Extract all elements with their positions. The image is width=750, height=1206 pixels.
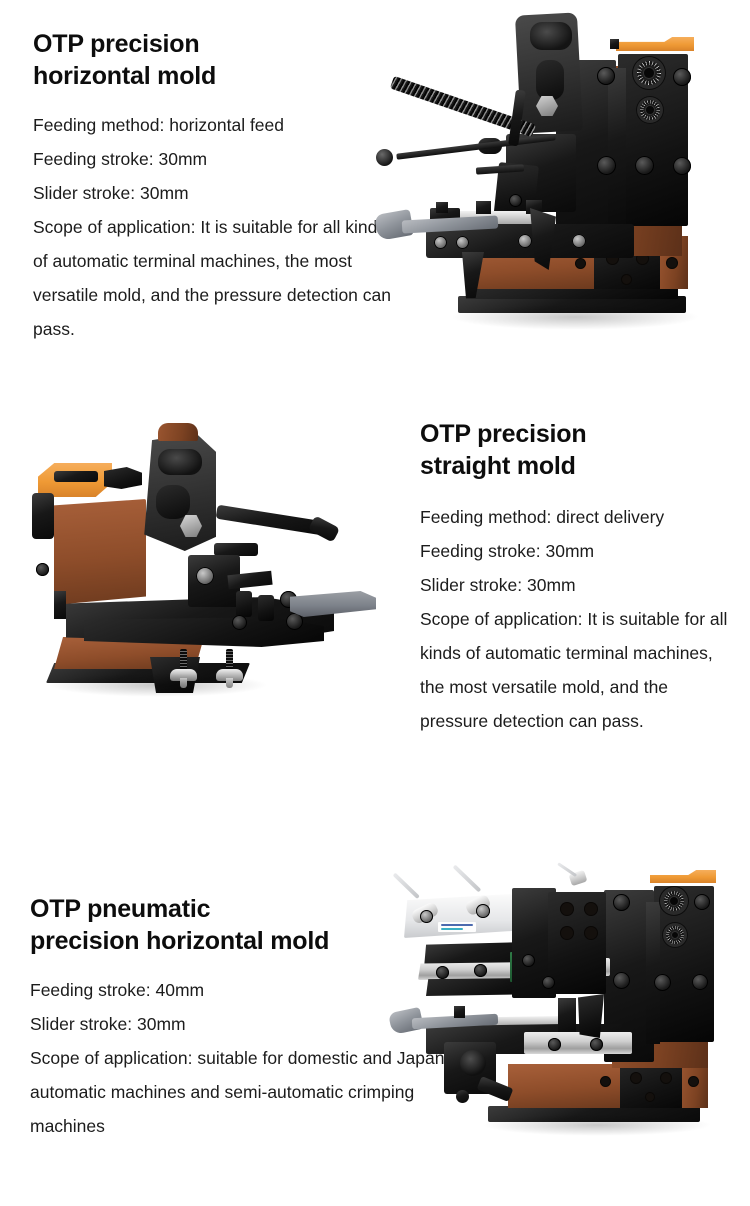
slide-bolt-1 bbox=[434, 236, 447, 249]
product-1-image bbox=[370, 8, 742, 338]
bolt-3-mid-right bbox=[692, 974, 708, 990]
base-hole-left bbox=[575, 258, 586, 269]
bolt-3-mid-center bbox=[654, 974, 671, 991]
paddle-pin bbox=[454, 1006, 465, 1018]
cylinder-label bbox=[438, 922, 476, 932]
left-housing bbox=[32, 493, 54, 539]
head-cap-knob bbox=[530, 22, 572, 50]
clamp-knob bbox=[456, 1090, 469, 1103]
upper-rail-bolt-2 bbox=[474, 964, 487, 977]
wing-screw-right-stem bbox=[226, 649, 233, 671]
adjustment-dial-upper[interactable] bbox=[632, 56, 666, 90]
orange-top-plate-3 bbox=[650, 870, 716, 883]
mid-bolt bbox=[509, 194, 522, 207]
adjustment-dial-lower[interactable] bbox=[636, 96, 664, 124]
slide-pin-a bbox=[476, 201, 491, 214]
slide-bolt-3 bbox=[518, 234, 532, 248]
head-slot-2 bbox=[156, 485, 190, 519]
body-divider-3 bbox=[646, 902, 660, 1044]
product-2-text-block: OTP precision straight mold Feeding meth… bbox=[420, 418, 740, 738]
product-2-image bbox=[18, 405, 390, 715]
upper-rail-bolt-1 bbox=[436, 966, 449, 979]
adjustment-dial-3-lower[interactable] bbox=[662, 922, 688, 948]
wing-screw-left-stem bbox=[180, 649, 187, 671]
deck-post-2 bbox=[258, 595, 274, 621]
orange-bracket-slot bbox=[54, 471, 98, 482]
deck-bolt-3 bbox=[232, 615, 247, 630]
product-2-spec-slider-stroke: Slider stroke: 30mm bbox=[420, 568, 740, 602]
product-1-spec-feeding-method: Feeding method: horizontal feed bbox=[33, 108, 393, 142]
cylinder-port-left bbox=[420, 910, 433, 923]
slide-pin-b bbox=[436, 202, 448, 213]
bolt-3-top-right bbox=[694, 894, 710, 910]
slide-bolt-2 bbox=[456, 236, 469, 249]
orange-plate-end-cap bbox=[610, 39, 619, 49]
carriage-bolt-2 bbox=[522, 954, 535, 967]
head-copper-cap bbox=[158, 423, 198, 441]
deck-post-1 bbox=[236, 591, 252, 617]
carriage-bolt-3 bbox=[542, 976, 555, 989]
lower-rail-bolt-1 bbox=[548, 1038, 561, 1051]
center-post-3 bbox=[558, 998, 576, 1032]
lower-rail-bolt-2 bbox=[590, 1038, 603, 1051]
carriage-hole-2 bbox=[584, 902, 598, 916]
air-tube-left bbox=[393, 873, 420, 899]
bolt-top-right bbox=[673, 68, 691, 86]
product-2-title: OTP precision straight mold bbox=[420, 418, 740, 482]
base-hole-3c bbox=[660, 1072, 672, 1084]
lever-arm bbox=[216, 505, 325, 536]
rod-ball-end bbox=[376, 149, 393, 166]
product-2-spec-scope: Scope of application: It is suitable for… bbox=[420, 602, 740, 738]
base-hole-3a bbox=[600, 1076, 611, 1087]
left-bolt bbox=[36, 563, 49, 576]
copper-side-panel bbox=[54, 499, 146, 605]
product-3-image bbox=[382, 858, 748, 1158]
carriage-hole-1 bbox=[560, 902, 574, 916]
product-spec-page: OTP precision horizontal mold Feeding me… bbox=[0, 0, 750, 1206]
left-post bbox=[54, 591, 66, 619]
product-1-title: OTP precision horizontal mold bbox=[33, 28, 393, 92]
bolt-mid-left bbox=[597, 156, 616, 175]
bolt-top-left bbox=[597, 67, 615, 85]
cylinder-port-right bbox=[476, 904, 490, 918]
carriage-hole-4 bbox=[584, 926, 598, 940]
blade-paddle bbox=[290, 591, 376, 617]
bracket-back-block bbox=[104, 467, 142, 489]
product-2-specs: Feeding method: direct delivery Feeding … bbox=[420, 500, 740, 738]
air-tube-right bbox=[453, 865, 482, 893]
base-hole-c bbox=[621, 274, 632, 285]
slide-bolt-4 bbox=[572, 234, 586, 248]
lower-linear-rail bbox=[524, 1032, 632, 1054]
top-tube bbox=[557, 862, 577, 877]
bolt-mid-right bbox=[673, 157, 691, 175]
base-hole-3e bbox=[688, 1076, 699, 1087]
drop-shadow bbox=[450, 304, 700, 330]
product-2-spec-feeding-stroke: Feeding stroke: 30mm bbox=[420, 534, 740, 568]
head-slot bbox=[536, 60, 564, 100]
base-hole-3b bbox=[630, 1072, 642, 1084]
bolt-mid-center bbox=[635, 156, 654, 175]
body-divider bbox=[608, 68, 626, 228]
base-hole-3d bbox=[645, 1092, 655, 1102]
drop-shadow-2 bbox=[48, 673, 268, 697]
product-1-specs: Feeding method: horizontal feed Feeding … bbox=[33, 108, 393, 346]
adjustment-dial-3-upper[interactable] bbox=[659, 886, 689, 916]
base-hole-right bbox=[666, 257, 678, 269]
orange-top-plate bbox=[616, 37, 694, 51]
lever-arm-tip bbox=[308, 515, 340, 542]
rotary-clamp-dial[interactable] bbox=[460, 1050, 486, 1076]
product-1-text-block: OTP precision horizontal mold Feeding me… bbox=[33, 28, 393, 346]
bolt-3-mid-left bbox=[613, 972, 630, 989]
product-1-spec-feeding-stroke: Feeding stroke: 30mm bbox=[33, 142, 393, 176]
product-1-spec-slider-stroke: Slider stroke: 30mm bbox=[33, 176, 393, 210]
bolt-3-top-left bbox=[613, 894, 630, 911]
carriage-hole-3 bbox=[560, 926, 574, 940]
head-dial-recess bbox=[158, 449, 202, 475]
product-1-spec-scope: Scope of application: It is suitable for… bbox=[33, 210, 393, 346]
mid-bolt-2 bbox=[196, 567, 214, 585]
drop-shadow-3 bbox=[482, 1114, 712, 1136]
center-post-3b bbox=[578, 994, 604, 1038]
product-2-spec-feeding-method: Feeding method: direct delivery bbox=[420, 500, 740, 534]
